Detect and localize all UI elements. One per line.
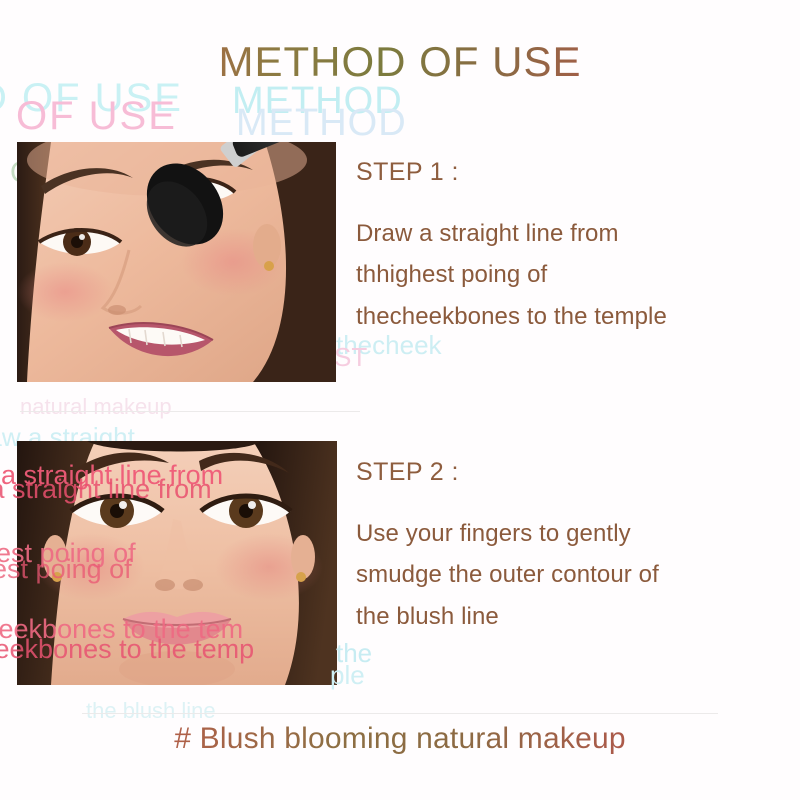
- step-2-image: [17, 441, 337, 685]
- section-divider: [20, 411, 360, 412]
- step-2-line: smudge the outer contour of: [356, 554, 788, 595]
- step-1-line: thecheekbones to the temple: [356, 296, 788, 337]
- step-2-line: the blush line: [356, 596, 788, 637]
- step-1-line: thhighest poing of: [356, 254, 788, 295]
- caption-divider: [82, 713, 718, 714]
- step-2-line: Use your fingers to gently: [356, 513, 788, 554]
- step-1-label: STEP 1 :: [356, 158, 788, 187]
- step-1-line: Draw a straight line from: [356, 213, 788, 254]
- step-2-illustration: [17, 441, 337, 685]
- ghost-text: METHOD: [232, 82, 403, 120]
- step-2-block: STEP 2 : Use your fingers to gently smud…: [356, 458, 788, 637]
- ghost-text: ST: [334, 344, 367, 370]
- ghost-text: D OF USE: [0, 96, 177, 136]
- page-title: METHOD OF USE: [0, 38, 800, 86]
- ghost-text: natural makeup: [20, 396, 172, 418]
- step-1-body: Draw a straight line from thhighest poin…: [356, 213, 788, 337]
- step-1-illustration: [17, 142, 336, 382]
- step-1-image: [17, 142, 336, 382]
- step-2-label: STEP 2 :: [356, 458, 788, 487]
- ghost-text: the blush line: [86, 700, 216, 722]
- hashtag-caption: # Blush blooming natural makeup: [0, 722, 800, 756]
- step-2-body: Use your fingers to gently smudge the ou…: [356, 513, 788, 637]
- ghost-text: the: [336, 640, 372, 666]
- ghost-text: METHOD: [236, 104, 407, 142]
- poster-root: D OF USE D OF USE METHOD METHOD OF USE O…: [0, 0, 800, 800]
- step-1-block: STEP 1 : Draw a straight line from thhig…: [356, 158, 788, 337]
